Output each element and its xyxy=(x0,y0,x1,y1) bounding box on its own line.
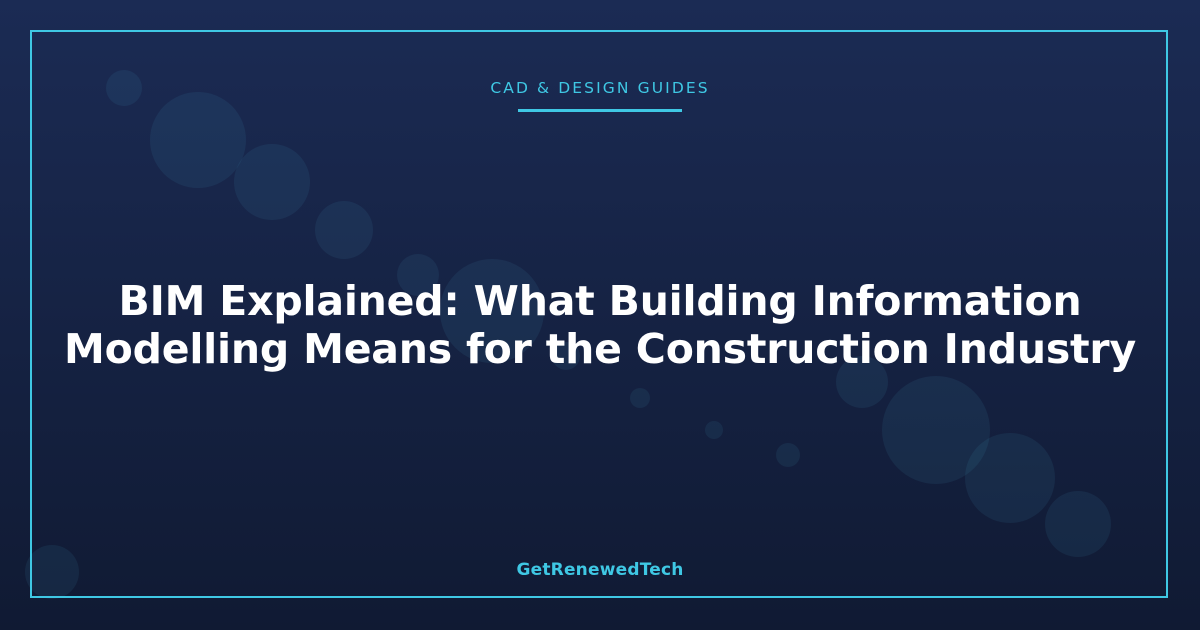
card-content: CAD & DESIGN GUIDES BIM Explained: What … xyxy=(0,0,1200,630)
category-eyebrow: CAD & DESIGN GUIDES xyxy=(0,78,1200,112)
category-label: CAD & DESIGN GUIDES xyxy=(490,78,709,98)
title-line-1: BIM Explained: What Building Information xyxy=(60,277,1140,325)
social-share-card: CAD & DESIGN GUIDES BIM Explained: What … xyxy=(0,0,1200,630)
brand-footer: GetRenewedTech xyxy=(0,560,1200,580)
title-line-2: Modelling Means for the Construction Ind… xyxy=(60,325,1140,373)
brand-name: GetRenewedTech xyxy=(516,560,683,580)
page-title: BIM Explained: What Building Information… xyxy=(60,277,1140,373)
eyebrow-underline-rule xyxy=(518,109,682,112)
